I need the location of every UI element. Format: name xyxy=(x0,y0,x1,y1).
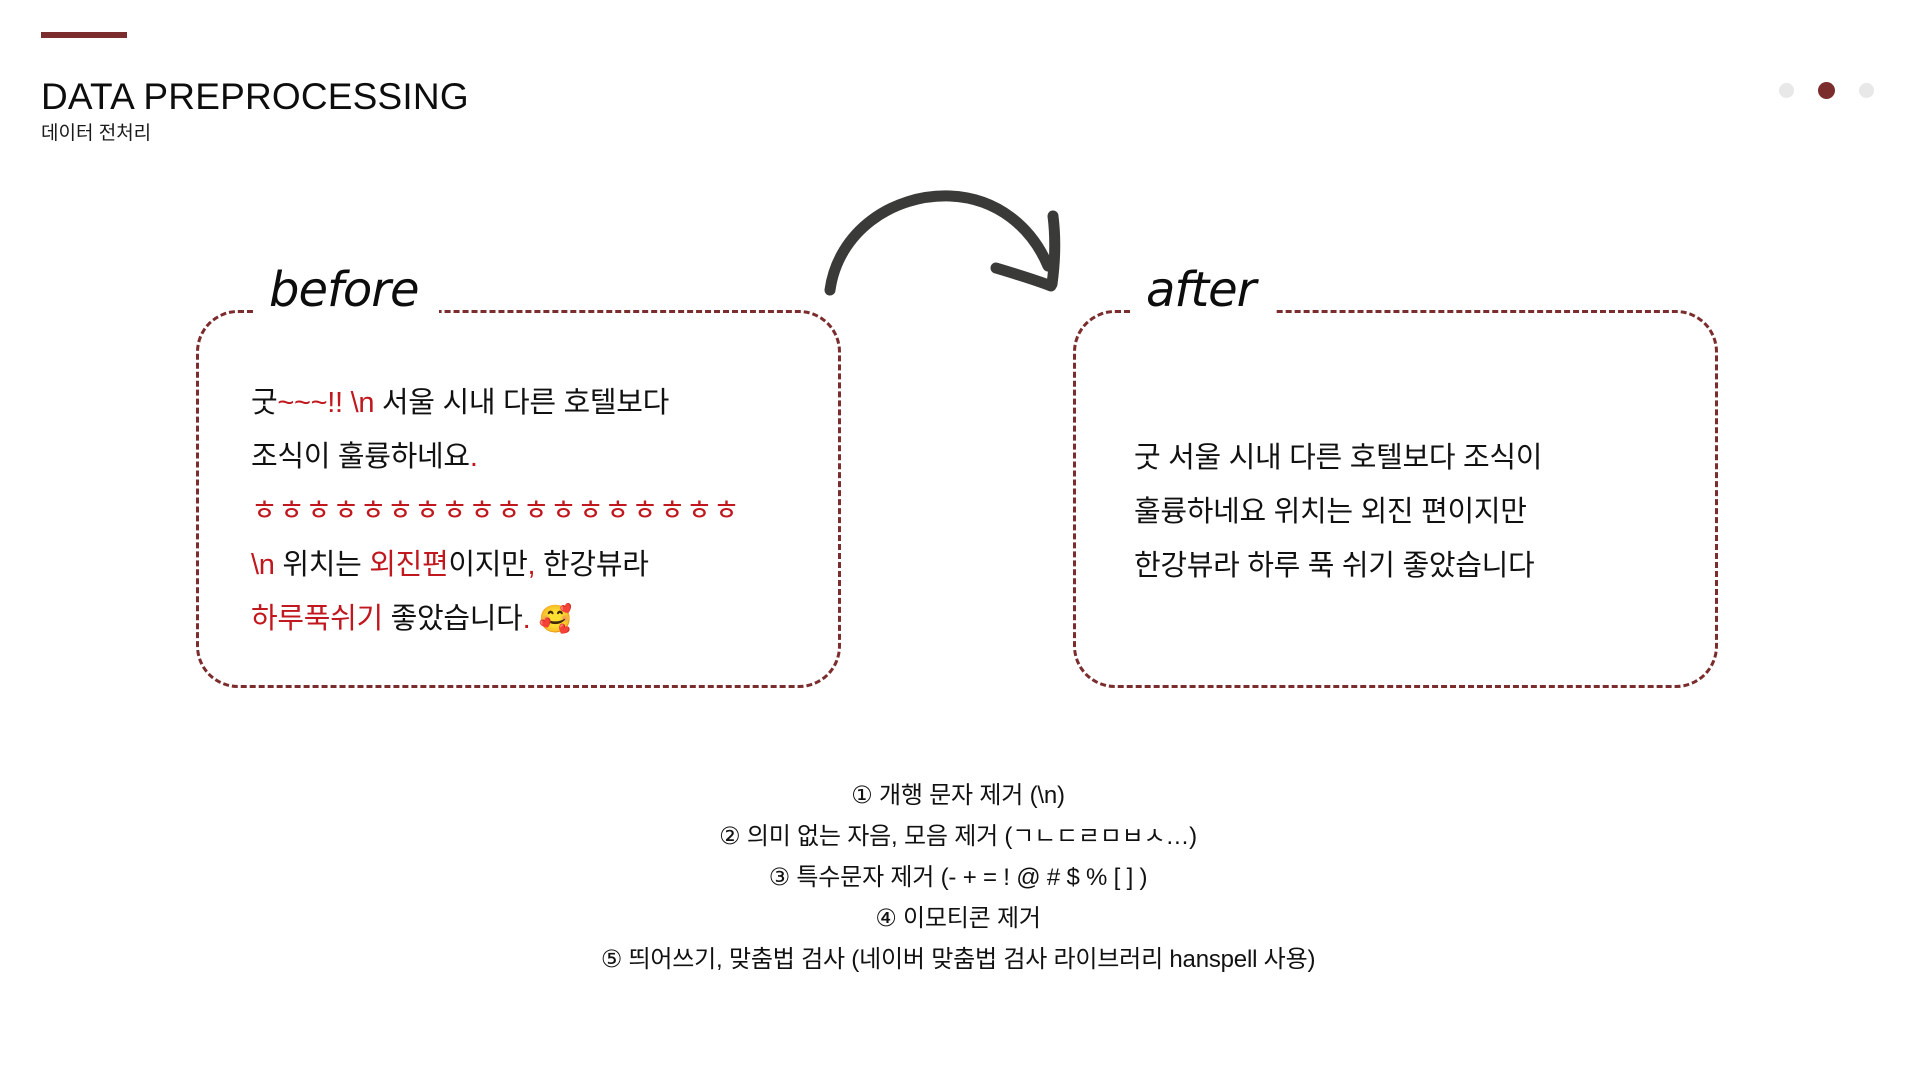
smiling-face-with-hearts-emoji-icon: 🥰 xyxy=(530,604,572,635)
before-seg-harupuk: 하루푹쉬기 xyxy=(251,603,383,635)
slide-pagination xyxy=(1779,82,1874,99)
before-line-2: 조식이 훌륭하네요. xyxy=(251,430,808,484)
before-line-1: 굿~~~!! \n 서울 시내 다른 호텔보다 xyxy=(251,376,808,430)
before-seg-hieut-run: ㅎㅎㅎㅎㅎㅎㅎㅎㅎㅎㅎㅎㅎㅎㅎㅎㅎㅎ xyxy=(251,484,808,538)
after-label: after xyxy=(1130,266,1275,314)
before-seg-ijiman: 이지만 xyxy=(448,549,527,581)
after-line-2: 훌륭하네요 위치는 외진 편이지만 xyxy=(1134,485,1685,539)
page-title: DATA PREPROCESSING xyxy=(41,78,469,115)
before-seg-location: 위치는 xyxy=(275,549,370,581)
after-line-3: 한강뷰라 하루 푹 쉬기 좋았습니다 xyxy=(1134,539,1685,593)
before-seg-sentence1: 서울 시내 다른 호텔보다 xyxy=(374,387,669,419)
before-seg-joatseumnida: 좋았습니다 xyxy=(383,603,523,635)
before-seg-hangangview: 한강뷰라 xyxy=(535,549,648,581)
before-line-3: ㅎㅎㅎㅎㅎㅎㅎㅎㅎㅎㅎㅎㅎㅎㅎㅎㅎㅎ xyxy=(251,484,808,538)
before-review-text: 굿~~~!! \n 서울 시내 다른 호텔보다 조식이 훌륭하네요. ㅎㅎㅎㅎㅎ… xyxy=(251,376,808,647)
pagination-dot-3[interactable] xyxy=(1859,83,1874,98)
page-subtitle: 데이터 전처리 xyxy=(41,124,151,143)
before-seg-good: 굿 xyxy=(251,387,277,419)
before-line-4: \n 위치는 외진편이지만, 한강뷰라 xyxy=(251,538,808,592)
before-line-5: 하루푹쉬기 좋았습니다. 🥰 xyxy=(251,592,808,647)
preprocessing-step-3: ③ 특수문자 제거 (- + = ! @ # $ % [ ] ) xyxy=(0,857,1916,898)
before-seg-period1: . xyxy=(470,441,478,473)
preprocessing-steps-list: ① 개행 문자 제거 (\n) ② 의미 없는 자음, 모음 제거 (ㄱㄴㄷㄹㅁ… xyxy=(0,775,1916,980)
preprocessing-step-1: ① 개행 문자 제거 (\n) xyxy=(0,775,1916,816)
before-callout-box: before 굿~~~!! \n 서울 시내 다른 호텔보다 조식이 훌륭하네요… xyxy=(196,310,841,688)
before-seg-space1 xyxy=(343,387,351,419)
before-seg-tildes: ~~~!! xyxy=(277,387,342,419)
before-label: before xyxy=(253,266,439,314)
before-seg-newline2: \n xyxy=(251,549,275,581)
after-review-text: 굿 서울 시내 다른 호텔보다 조식이 훌륭하네요 위치는 외진 편이지만 한강… xyxy=(1134,431,1685,593)
curved-arrow-right-icon xyxy=(820,180,1080,300)
after-line-1: 굿 서울 시내 다른 호텔보다 조식이 xyxy=(1134,431,1685,485)
before-seg-oejinpyeon: 외진편 xyxy=(369,549,448,581)
before-seg-newline1: \n xyxy=(351,387,375,419)
after-callout-box: after 굿 서울 시내 다른 호텔보다 조식이 훌륭하네요 위치는 외진 편… xyxy=(1073,310,1718,688)
before-seg-sentence2: 조식이 훌륭하네요 xyxy=(251,441,470,473)
pagination-dot-1[interactable] xyxy=(1779,83,1794,98)
title-accent-bar xyxy=(41,32,127,38)
preprocessing-step-2: ② 의미 없는 자음, 모음 제거 (ㄱㄴㄷㄹㅁㅂㅅ…) xyxy=(0,816,1916,857)
preprocessing-step-5: ⑤ 띄어쓰기, 맞춤법 검사 (네이버 맞춤법 검사 라이브러리 hanspel… xyxy=(0,939,1916,980)
preprocessing-step-4: ④ 이모티콘 제거 xyxy=(0,898,1916,939)
pagination-dot-2-active[interactable] xyxy=(1818,82,1835,99)
